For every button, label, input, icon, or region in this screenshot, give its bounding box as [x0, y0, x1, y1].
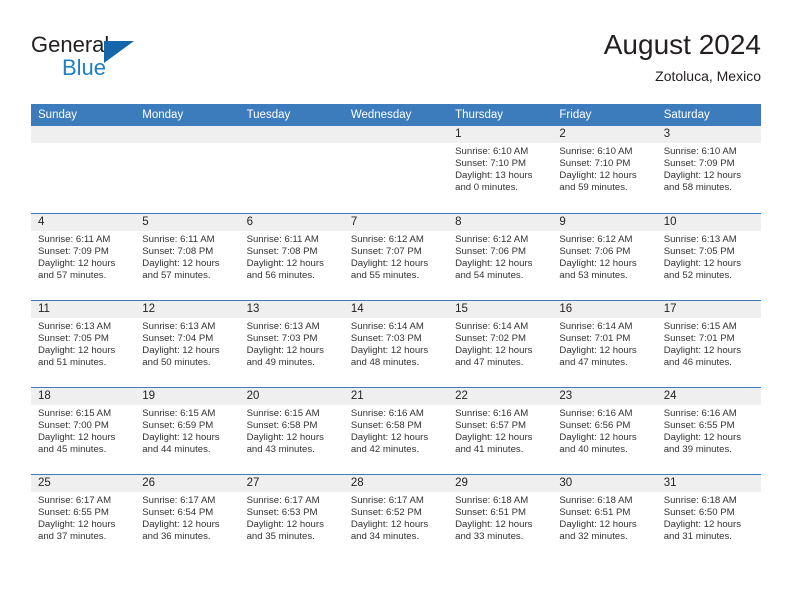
- sunrise-text: Sunrise: 6:15 AM: [247, 408, 337, 420]
- calendar-day-cell[interactable]: 29Sunrise: 6:18 AMSunset: 6:51 PMDayligh…: [448, 475, 552, 561]
- day-sun-info: Sunrise: 6:13 AMSunset: 7:03 PMDaylight:…: [240, 318, 344, 369]
- calendar-day-cell[interactable]: 1Sunrise: 6:10 AMSunset: 7:10 PMDaylight…: [448, 126, 552, 213]
- sunrise-text: Sunrise: 6:13 AM: [247, 321, 337, 333]
- day-sun-info: Sunrise: 6:16 AMSunset: 6:57 PMDaylight:…: [448, 405, 552, 456]
- sunset-text: Sunset: 6:53 PM: [247, 507, 337, 519]
- calendar-week-row: 4Sunrise: 6:11 AMSunset: 7:09 PMDaylight…: [31, 213, 761, 300]
- day-number: 19: [135, 388, 239, 405]
- daylight-text: Daylight: 12 hours and 44 minutes.: [142, 432, 232, 456]
- calendar-day-cell[interactable]: 11Sunrise: 6:13 AMSunset: 7:05 PMDayligh…: [31, 301, 135, 387]
- daylight-text: Daylight: 12 hours and 48 minutes.: [351, 345, 441, 369]
- sunset-text: Sunset: 6:50 PM: [664, 507, 754, 519]
- weekday-header-saturday: Saturday: [657, 104, 761, 126]
- day-sun-info: Sunrise: 6:17 AMSunset: 6:52 PMDaylight:…: [344, 492, 448, 543]
- day-number: 31: [657, 475, 761, 492]
- page-header: General Blue August 2024 Zotoluca, Mexic…: [31, 28, 761, 90]
- brand-word-blue: Blue: [62, 55, 106, 81]
- sunrise-text: Sunrise: 6:14 AM: [351, 321, 441, 333]
- sunrise-text: Sunrise: 6:16 AM: [559, 408, 649, 420]
- day-number: 24: [657, 388, 761, 405]
- day-sun-info: Sunrise: 6:17 AMSunset: 6:53 PMDaylight:…: [240, 492, 344, 543]
- sunset-text: Sunset: 7:04 PM: [142, 333, 232, 345]
- daylight-text: Daylight: 12 hours and 42 minutes.: [351, 432, 441, 456]
- day-number: [240, 126, 344, 143]
- day-number: 29: [448, 475, 552, 492]
- sunrise-text: Sunrise: 6:16 AM: [351, 408, 441, 420]
- sunset-text: Sunset: 7:07 PM: [351, 246, 441, 258]
- calendar-day-cell[interactable]: 24Sunrise: 6:16 AMSunset: 6:55 PMDayligh…: [657, 388, 761, 474]
- sunrise-text: Sunrise: 6:10 AM: [559, 146, 649, 158]
- sunset-text: Sunset: 7:09 PM: [38, 246, 128, 258]
- day-number: [344, 126, 448, 143]
- daylight-text: Daylight: 12 hours and 56 minutes.: [247, 258, 337, 282]
- calendar-day-cell[interactable]: 3Sunrise: 6:10 AMSunset: 7:09 PMDaylight…: [657, 126, 761, 213]
- sunrise-text: Sunrise: 6:11 AM: [142, 234, 232, 246]
- sunrise-text: Sunrise: 6:17 AM: [247, 495, 337, 507]
- day-sun-info: Sunrise: 6:13 AMSunset: 7:05 PMDaylight:…: [31, 318, 135, 369]
- calendar-day-cell[interactable]: 31Sunrise: 6:18 AMSunset: 6:50 PMDayligh…: [657, 475, 761, 561]
- day-number: 2: [552, 126, 656, 143]
- day-number: 10: [657, 214, 761, 231]
- calendar-day-cell[interactable]: 26Sunrise: 6:17 AMSunset: 6:54 PMDayligh…: [135, 475, 239, 561]
- sunset-text: Sunset: 7:08 PM: [142, 246, 232, 258]
- calendar-weeks: 1Sunrise: 6:10 AMSunset: 7:10 PMDaylight…: [31, 126, 761, 561]
- day-sun-info: Sunrise: 6:10 AMSunset: 7:10 PMDaylight:…: [552, 143, 656, 194]
- calendar-day-cell-empty: [344, 126, 448, 213]
- day-number: 25: [31, 475, 135, 492]
- sunset-text: Sunset: 7:06 PM: [455, 246, 545, 258]
- sunset-text: Sunset: 6:55 PM: [664, 420, 754, 432]
- weekday-header-sunday: Sunday: [31, 104, 135, 126]
- calendar-day-cell[interactable]: 28Sunrise: 6:17 AMSunset: 6:52 PMDayligh…: [344, 475, 448, 561]
- daylight-text: Daylight: 12 hours and 39 minutes.: [664, 432, 754, 456]
- calendar-day-cell[interactable]: 30Sunrise: 6:18 AMSunset: 6:51 PMDayligh…: [552, 475, 656, 561]
- weekday-header-thursday: Thursday: [448, 104, 552, 126]
- day-number: 13: [240, 301, 344, 318]
- sunrise-text: Sunrise: 6:18 AM: [455, 495, 545, 507]
- calendar-day-cell[interactable]: 5Sunrise: 6:11 AMSunset: 7:08 PMDaylight…: [135, 214, 239, 300]
- daylight-text: Daylight: 12 hours and 36 minutes.: [142, 519, 232, 543]
- calendar-day-cell-empty: [135, 126, 239, 213]
- day-number: 4: [31, 214, 135, 231]
- sunset-text: Sunset: 7:03 PM: [247, 333, 337, 345]
- calendar-day-cell[interactable]: 8Sunrise: 6:12 AMSunset: 7:06 PMDaylight…: [448, 214, 552, 300]
- day-sun-info: Sunrise: 6:16 AMSunset: 6:55 PMDaylight:…: [657, 405, 761, 456]
- sunrise-text: Sunrise: 6:16 AM: [455, 408, 545, 420]
- calendar-day-cell[interactable]: 13Sunrise: 6:13 AMSunset: 7:03 PMDayligh…: [240, 301, 344, 387]
- calendar-day-cell[interactable]: 16Sunrise: 6:14 AMSunset: 7:01 PMDayligh…: [552, 301, 656, 387]
- day-number: [135, 126, 239, 143]
- sunrise-text: Sunrise: 6:17 AM: [142, 495, 232, 507]
- day-number: 7: [344, 214, 448, 231]
- calendar-day-cell-empty: [240, 126, 344, 213]
- sunrise-text: Sunrise: 6:13 AM: [38, 321, 128, 333]
- sunset-text: Sunset: 6:58 PM: [247, 420, 337, 432]
- calendar-day-cell[interactable]: 4Sunrise: 6:11 AMSunset: 7:09 PMDaylight…: [31, 214, 135, 300]
- day-number: 12: [135, 301, 239, 318]
- sunrise-text: Sunrise: 6:15 AM: [38, 408, 128, 420]
- day-sun-info: Sunrise: 6:13 AMSunset: 7:05 PMDaylight:…: [657, 231, 761, 282]
- day-number: [31, 126, 135, 143]
- calendar-day-cell[interactable]: 25Sunrise: 6:17 AMSunset: 6:55 PMDayligh…: [31, 475, 135, 561]
- day-number: 9: [552, 214, 656, 231]
- sunset-text: Sunset: 6:58 PM: [351, 420, 441, 432]
- day-sun-info: Sunrise: 6:18 AMSunset: 6:50 PMDaylight:…: [657, 492, 761, 543]
- sunset-text: Sunset: 7:05 PM: [664, 246, 754, 258]
- sunrise-text: Sunrise: 6:12 AM: [455, 234, 545, 246]
- day-sun-info: Sunrise: 6:15 AMSunset: 7:01 PMDaylight:…: [657, 318, 761, 369]
- sunrise-text: Sunrise: 6:11 AM: [247, 234, 337, 246]
- day-number: 23: [552, 388, 656, 405]
- sunrise-text: Sunrise: 6:12 AM: [351, 234, 441, 246]
- sunrise-text: Sunrise: 6:13 AM: [664, 234, 754, 246]
- calendar-day-cell[interactable]: 14Sunrise: 6:14 AMSunset: 7:03 PMDayligh…: [344, 301, 448, 387]
- daylight-text: Daylight: 12 hours and 43 minutes.: [247, 432, 337, 456]
- calendar-day-cell[interactable]: 6Sunrise: 6:11 AMSunset: 7:08 PMDaylight…: [240, 214, 344, 300]
- calendar-week-row: 25Sunrise: 6:17 AMSunset: 6:55 PMDayligh…: [31, 474, 761, 561]
- daylight-text: Daylight: 12 hours and 55 minutes.: [351, 258, 441, 282]
- sunrise-text: Sunrise: 6:14 AM: [455, 321, 545, 333]
- sunrise-text: Sunrise: 6:10 AM: [455, 146, 545, 158]
- sunset-text: Sunset: 6:57 PM: [455, 420, 545, 432]
- calendar-day-cell[interactable]: 18Sunrise: 6:15 AMSunset: 7:00 PMDayligh…: [31, 388, 135, 474]
- sunrise-text: Sunrise: 6:15 AM: [664, 321, 754, 333]
- daylight-text: Daylight: 13 hours and 0 minutes.: [455, 170, 545, 194]
- sunrise-text: Sunrise: 6:17 AM: [351, 495, 441, 507]
- sunset-text: Sunset: 7:09 PM: [664, 158, 754, 170]
- weekday-header-wednesday: Wednesday: [344, 104, 448, 126]
- daylight-text: Daylight: 12 hours and 35 minutes.: [247, 519, 337, 543]
- day-sun-info: Sunrise: 6:17 AMSunset: 6:54 PMDaylight:…: [135, 492, 239, 543]
- sunset-text: Sunset: 6:52 PM: [351, 507, 441, 519]
- sunrise-text: Sunrise: 6:16 AM: [664, 408, 754, 420]
- daylight-text: Daylight: 12 hours and 41 minutes.: [455, 432, 545, 456]
- day-sun-info: Sunrise: 6:15 AMSunset: 7:00 PMDaylight:…: [31, 405, 135, 456]
- general-blue-logo[interactable]: General Blue: [31, 32, 151, 88]
- day-sun-info: Sunrise: 6:18 AMSunset: 6:51 PMDaylight:…: [448, 492, 552, 543]
- sunset-text: Sunset: 6:56 PM: [559, 420, 649, 432]
- day-sun-info: Sunrise: 6:11 AMSunset: 7:09 PMDaylight:…: [31, 231, 135, 282]
- sunset-text: Sunset: 7:06 PM: [559, 246, 649, 258]
- day-number: 14: [344, 301, 448, 318]
- sunset-text: Sunset: 7:00 PM: [38, 420, 128, 432]
- day-sun-info: Sunrise: 6:12 AMSunset: 7:06 PMDaylight:…: [552, 231, 656, 282]
- day-number: 28: [344, 475, 448, 492]
- day-number: 15: [448, 301, 552, 318]
- day-sun-info: Sunrise: 6:18 AMSunset: 6:51 PMDaylight:…: [552, 492, 656, 543]
- sunrise-text: Sunrise: 6:11 AM: [38, 234, 128, 246]
- daylight-text: Daylight: 12 hours and 37 minutes.: [38, 519, 128, 543]
- location-subtitle: Zotoluca, Mexico: [604, 66, 761, 86]
- daylight-text: Daylight: 12 hours and 47 minutes.: [559, 345, 649, 369]
- day-number: 11: [31, 301, 135, 318]
- weekday-header-friday: Friday: [552, 104, 656, 126]
- day-sun-info: Sunrise: 6:13 AMSunset: 7:04 PMDaylight:…: [135, 318, 239, 369]
- daylight-text: Daylight: 12 hours and 40 minutes.: [559, 432, 649, 456]
- day-sun-info: Sunrise: 6:15 AMSunset: 6:59 PMDaylight:…: [135, 405, 239, 456]
- daylight-text: Daylight: 12 hours and 50 minutes.: [142, 345, 232, 369]
- sunset-text: Sunset: 6:55 PM: [38, 507, 128, 519]
- calendar-grid: Sunday Monday Tuesday Wednesday Thursday…: [31, 104, 761, 561]
- daylight-text: Daylight: 12 hours and 32 minutes.: [559, 519, 649, 543]
- blue-triangle-logo-icon: [104, 41, 134, 63]
- day-sun-info: Sunrise: 6:14 AMSunset: 7:02 PMDaylight:…: [448, 318, 552, 369]
- calendar-week-row: 1Sunrise: 6:10 AMSunset: 7:10 PMDaylight…: [31, 126, 761, 213]
- daylight-text: Daylight: 12 hours and 51 minutes.: [38, 345, 128, 369]
- day-number: 20: [240, 388, 344, 405]
- sunset-text: Sunset: 7:01 PM: [559, 333, 649, 345]
- calendar-day-cell[interactable]: 15Sunrise: 6:14 AMSunset: 7:02 PMDayligh…: [448, 301, 552, 387]
- sunset-text: Sunset: 6:51 PM: [559, 507, 649, 519]
- calendar-day-cell[interactable]: 2Sunrise: 6:10 AMSunset: 7:10 PMDaylight…: [552, 126, 656, 213]
- day-sun-info: Sunrise: 6:12 AMSunset: 7:06 PMDaylight:…: [448, 231, 552, 282]
- daylight-text: Daylight: 12 hours and 46 minutes.: [664, 345, 754, 369]
- daylight-text: Daylight: 12 hours and 49 minutes.: [247, 345, 337, 369]
- calendar-day-cell[interactable]: 17Sunrise: 6:15 AMSunset: 7:01 PMDayligh…: [657, 301, 761, 387]
- weekday-header-tuesday: Tuesday: [240, 104, 344, 126]
- weekday-header-monday: Monday: [135, 104, 239, 126]
- daylight-text: Daylight: 12 hours and 31 minutes.: [664, 519, 754, 543]
- sunrise-text: Sunrise: 6:18 AM: [559, 495, 649, 507]
- page-title: August 2024: [604, 28, 761, 62]
- daylight-text: Daylight: 12 hours and 57 minutes.: [38, 258, 128, 282]
- day-sun-info: Sunrise: 6:14 AMSunset: 7:03 PMDaylight:…: [344, 318, 448, 369]
- day-number: 3: [657, 126, 761, 143]
- calendar-day-cell[interactable]: 23Sunrise: 6:16 AMSunset: 6:56 PMDayligh…: [552, 388, 656, 474]
- day-number: 21: [344, 388, 448, 405]
- sunrise-text: Sunrise: 6:12 AM: [559, 234, 649, 246]
- sunset-text: Sunset: 7:02 PM: [455, 333, 545, 345]
- day-sun-info: Sunrise: 6:17 AMSunset: 6:55 PMDaylight:…: [31, 492, 135, 543]
- day-sun-info: Sunrise: 6:12 AMSunset: 7:07 PMDaylight:…: [344, 231, 448, 282]
- daylight-text: Daylight: 12 hours and 58 minutes.: [664, 170, 754, 194]
- sunset-text: Sunset: 6:51 PM: [455, 507, 545, 519]
- sunset-text: Sunset: 6:54 PM: [142, 507, 232, 519]
- calendar-day-cell[interactable]: 10Sunrise: 6:13 AMSunset: 7:05 PMDayligh…: [657, 214, 761, 300]
- sunset-text: Sunset: 7:10 PM: [455, 158, 545, 170]
- daylight-text: Daylight: 12 hours and 52 minutes.: [664, 258, 754, 282]
- daylight-text: Daylight: 12 hours and 34 minutes.: [351, 519, 441, 543]
- calendar-day-cell-empty: [31, 126, 135, 213]
- weekday-header-row: Sunday Monday Tuesday Wednesday Thursday…: [31, 104, 761, 126]
- calendar-week-row: 11Sunrise: 6:13 AMSunset: 7:05 PMDayligh…: [31, 300, 761, 387]
- sunset-text: Sunset: 6:59 PM: [142, 420, 232, 432]
- day-number: 26: [135, 475, 239, 492]
- sunrise-text: Sunrise: 6:15 AM: [142, 408, 232, 420]
- sunrise-text: Sunrise: 6:18 AM: [664, 495, 754, 507]
- sunset-text: Sunset: 7:01 PM: [664, 333, 754, 345]
- day-number: 1: [448, 126, 552, 143]
- day-number: 8: [448, 214, 552, 231]
- calendar-day-cell[interactable]: 9Sunrise: 6:12 AMSunset: 7:06 PMDaylight…: [552, 214, 656, 300]
- daylight-text: Daylight: 12 hours and 33 minutes.: [455, 519, 545, 543]
- day-number: 30: [552, 475, 656, 492]
- title-block: August 2024 Zotoluca, Mexico: [604, 28, 761, 86]
- calendar-week-row: 18Sunrise: 6:15 AMSunset: 7:00 PMDayligh…: [31, 387, 761, 474]
- day-number: 27: [240, 475, 344, 492]
- day-sun-info: Sunrise: 6:16 AMSunset: 6:58 PMDaylight:…: [344, 405, 448, 456]
- day-sun-info: Sunrise: 6:10 AMSunset: 7:09 PMDaylight:…: [657, 143, 761, 194]
- day-number: 6: [240, 214, 344, 231]
- daylight-text: Daylight: 12 hours and 57 minutes.: [142, 258, 232, 282]
- sunset-text: Sunset: 7:08 PM: [247, 246, 337, 258]
- day-number: 17: [657, 301, 761, 318]
- daylight-text: Daylight: 12 hours and 59 minutes.: [559, 170, 649, 194]
- calendar-day-cell[interactable]: 21Sunrise: 6:16 AMSunset: 6:58 PMDayligh…: [344, 388, 448, 474]
- calendar-day-cell[interactable]: 19Sunrise: 6:15 AMSunset: 6:59 PMDayligh…: [135, 388, 239, 474]
- sunset-text: Sunset: 7:05 PM: [38, 333, 128, 345]
- daylight-text: Daylight: 12 hours and 53 minutes.: [559, 258, 649, 282]
- sunrise-text: Sunrise: 6:17 AM: [38, 495, 128, 507]
- sunset-text: Sunset: 7:10 PM: [559, 158, 649, 170]
- day-number: 22: [448, 388, 552, 405]
- sunrise-text: Sunrise: 6:10 AM: [664, 146, 754, 158]
- day-sun-info: Sunrise: 6:10 AMSunset: 7:10 PMDaylight:…: [448, 143, 552, 194]
- day-number: 16: [552, 301, 656, 318]
- daylight-text: Daylight: 12 hours and 47 minutes.: [455, 345, 545, 369]
- day-sun-info: Sunrise: 6:16 AMSunset: 6:56 PMDaylight:…: [552, 405, 656, 456]
- calendar-day-cell[interactable]: 22Sunrise: 6:16 AMSunset: 6:57 PMDayligh…: [448, 388, 552, 474]
- day-sun-info: Sunrise: 6:15 AMSunset: 6:58 PMDaylight:…: [240, 405, 344, 456]
- day-number: 18: [31, 388, 135, 405]
- sunrise-text: Sunrise: 6:13 AM: [142, 321, 232, 333]
- day-sun-info: Sunrise: 6:11 AMSunset: 7:08 PMDaylight:…: [135, 231, 239, 282]
- calendar-page: General Blue August 2024 Zotoluca, Mexic…: [0, 0, 792, 612]
- sunset-text: Sunset: 7:03 PM: [351, 333, 441, 345]
- day-number: 5: [135, 214, 239, 231]
- calendar-day-cell[interactable]: 12Sunrise: 6:13 AMSunset: 7:04 PMDayligh…: [135, 301, 239, 387]
- calendar-day-cell[interactable]: 27Sunrise: 6:17 AMSunset: 6:53 PMDayligh…: [240, 475, 344, 561]
- day-sun-info: Sunrise: 6:11 AMSunset: 7:08 PMDaylight:…: [240, 231, 344, 282]
- daylight-text: Daylight: 12 hours and 54 minutes.: [455, 258, 545, 282]
- daylight-text: Daylight: 12 hours and 45 minutes.: [38, 432, 128, 456]
- calendar-day-cell[interactable]: 7Sunrise: 6:12 AMSunset: 7:07 PMDaylight…: [344, 214, 448, 300]
- day-sun-info: Sunrise: 6:14 AMSunset: 7:01 PMDaylight:…: [552, 318, 656, 369]
- calendar-day-cell[interactable]: 20Sunrise: 6:15 AMSunset: 6:58 PMDayligh…: [240, 388, 344, 474]
- sunrise-text: Sunrise: 6:14 AM: [559, 321, 649, 333]
